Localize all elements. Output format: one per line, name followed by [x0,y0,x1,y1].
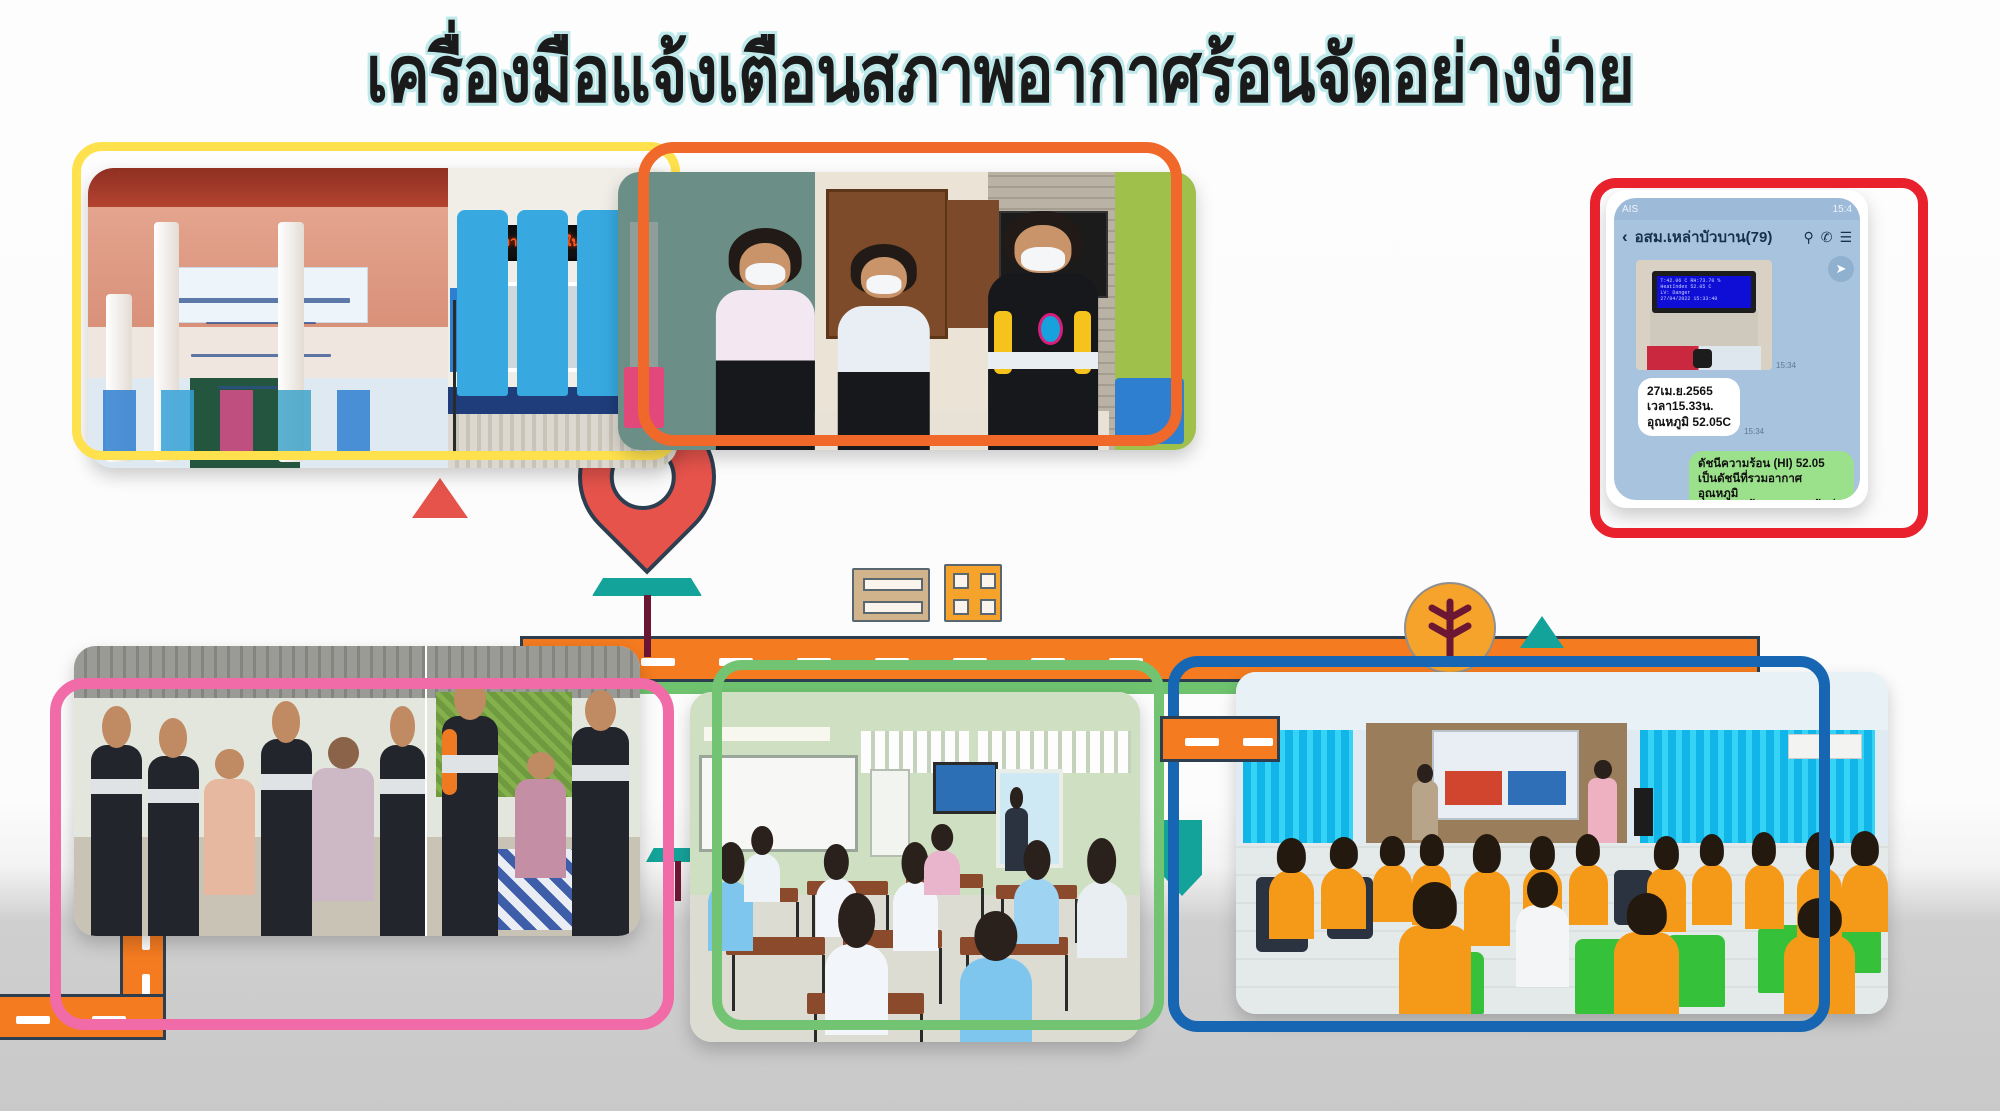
road-connector-right-top [1160,716,1280,762]
message-bubble-incoming[interactable]: 27เม.ย.2565 เวลา15.33น. อุณหภูมิ 52.05C [1638,378,1740,436]
page-title: เครื่องมือแจ้งเตือนสภาพอากาศร้อนจัดอย่าง… [180,34,1820,116]
elderly-resident [515,779,566,878]
attendee [1269,870,1315,938]
student [960,958,1032,1042]
attendee-front [1399,925,1471,1014]
message-line-1: 27เม.ย.2565 [1647,384,1731,399]
chevron-left-icon[interactable]: ‹ [1622,227,1628,247]
photo-card-meeting-room[interactable] [618,172,1196,450]
chat-header: ‹ อสม.เหล่าบัวบาน(79) ⚲ ✆ ☰ [1614,220,1860,254]
volunteer-orange [442,716,499,936]
message-bubble-outgoing[interactable]: ดัชนีความร้อน (HI) 52.05 เป็นดัชนีที่รวม… [1689,451,1854,500]
hamburger-menu-icon[interactable]: ☰ [1839,229,1852,246]
triangle-marker-teal-right [1520,616,1564,648]
phone-screenshot[interactable]: AIS 15:4 ‹ อสม.เหล่าบัวบาน(79) ⚲ ✆ ☰ T [1614,198,1860,500]
student [744,853,780,902]
share-icon[interactable]: ➤ [1828,256,1854,282]
attendee [1373,864,1412,922]
volunteer [91,745,142,936]
tree-branch-glyph [1406,584,1494,672]
circle-tree-icon [1404,582,1496,674]
chat-message-outgoing[interactable]: อ่านแล้ว 9 15:38 ดัชนีความร้อน (HI) 52.0… [1620,442,1854,500]
chat-image-message[interactable]: T:42.06 C RH:73.70 % HeatIndex 52.05 C L… [1620,260,1854,370]
message-line-1: ดัชนีความร้อน (HI) 52.05 [1698,457,1845,472]
marker-flag-teal [1162,820,1202,896]
attendee [1842,864,1888,932]
volunteer [261,739,312,936]
attendee-front [1784,935,1856,1014]
photo-meeting-room [618,172,1196,450]
person-student-left [716,228,814,450]
message-line-3: อุณหภูมิ 52.05C [1647,415,1731,430]
lcd-line-4: 27/04/2022 15:33:40 [1660,296,1747,302]
attendee [1464,870,1510,945]
student [924,850,960,896]
attendee [1745,864,1784,929]
photo-card-phone-chat[interactable]: AIS 15:4 ‹ อสม.เหล่าบัวบาน(79) ⚲ ✆ ☰ T [1606,190,1868,508]
message-line-2: เป็นดัชนีที่รวมอากาศ อุณหภูมิ [1698,472,1845,500]
chat-message-incoming[interactable]: 27เม.ย.2565 เวลา15.33น. อุณหภูมิ 52.05C … [1620,370,1854,436]
attendee-white-shirt [1516,905,1568,987]
photo-card-classroom[interactable] [690,692,1140,1042]
message-line-2: เวลา15.33น. [1647,399,1731,414]
photo-classroom [690,692,1140,1042]
person-student-middle [838,244,930,450]
photo-card-hospital-entrance[interactable]: ดัชนีความร้อนอยู่ในระดับ อ [88,168,678,468]
student [1014,878,1059,945]
attendee [1321,867,1367,929]
person-health-officer [988,211,1098,450]
attendee [1569,864,1608,926]
hospital-building [88,168,454,468]
speaker-right [1588,778,1617,843]
photo-card-home-visit[interactable] [74,646,640,936]
phone-status-bar: AIS 15:4 [1614,198,1860,220]
attendee [1692,864,1731,926]
poster-canvas: เครื่องมือแจ้งเตือนสภาพอากาศร้อนจัดอย่าง… [0,0,2000,1111]
phone-icon[interactable]: ✆ [1821,229,1833,246]
incoming-timestamp: 15:34 [1744,427,1764,436]
speaker-left [1412,781,1438,839]
photo-card-training-hall[interactable] [1236,672,1888,1014]
battery-label: 15:4 [1833,204,1852,215]
carrier-label: AIS [1622,204,1638,215]
volunteer [380,745,425,936]
image-timestamp: 15:34 [1776,361,1796,370]
elderly-resident [204,779,255,895]
lcd-display: T:42.06 C RH:73.70 % HeatIndex 52.05 C L… [1652,271,1755,313]
student [1077,881,1127,958]
volunteer [148,756,199,936]
photo-home-visit [74,646,640,936]
volunteer [572,727,629,936]
road-corner-bottom-left [0,994,166,1040]
student [825,944,888,1035]
chat-group-name: อสม.เหล่าบัวบาน(79) [1635,225,1797,249]
device-photo-thumbnail[interactable]: T:42.06 C RH:73.70 % HeatIndex 52.05 C L… [1636,260,1772,370]
attendee-front [1614,932,1679,1014]
building-icon-tan [852,568,930,622]
chat-message-list[interactable]: T:42.06 C RH:73.70 % HeatIndex 52.05 C L… [1614,254,1860,500]
hospital-name-sign [154,267,368,323]
search-icon[interactable]: ⚲ [1803,229,1813,246]
photo-training-hall [1236,672,1888,1014]
photo-hospital-entrance: ดัชนีความร้อนอยู่ในระดับ อ [88,168,678,468]
building-icon-orange [944,564,1002,622]
elderly-resident [312,768,374,901]
triangle-marker-red [412,478,468,518]
